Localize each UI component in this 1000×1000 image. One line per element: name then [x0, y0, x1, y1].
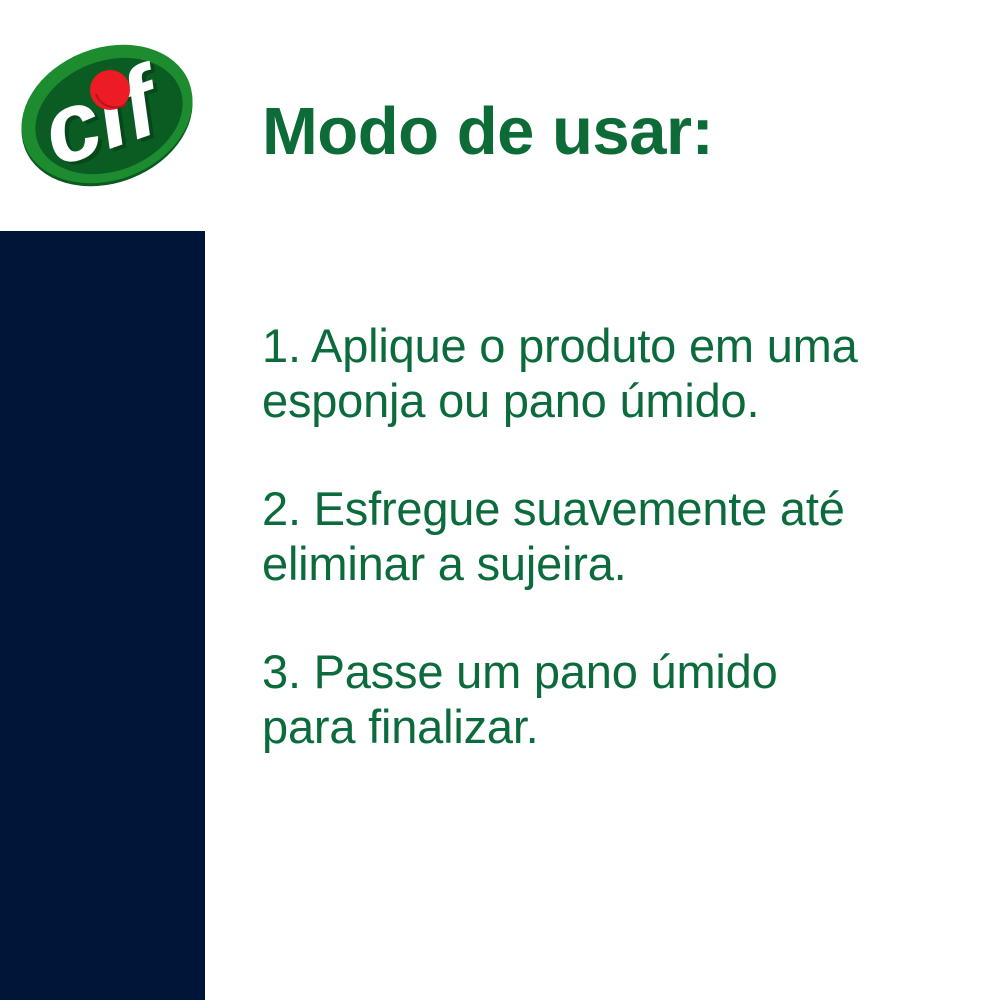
instruction-step-3: 3. Passe um pano úmido para finalizar.	[262, 644, 882, 755]
page-title: Modo de usar:	[262, 96, 713, 167]
instruction-step-1: 1. Aplique o produto em uma esponja ou p…	[262, 318, 882, 429]
page-canvas: cif cif Modo de usar: 1. Aplique o produ…	[0, 0, 1000, 1000]
cif-logo: cif cif	[12, 22, 202, 207]
logo-red-dot-icon	[90, 70, 130, 110]
instruction-step-2: 2. Esfregue suavemente até eliminar a su…	[262, 481, 882, 592]
cif-logo-icon: cif cif	[12, 22, 202, 207]
navy-side-panel	[0, 231, 205, 1000]
instructions-list: 1. Aplique o produto em uma esponja ou p…	[262, 318, 882, 755]
